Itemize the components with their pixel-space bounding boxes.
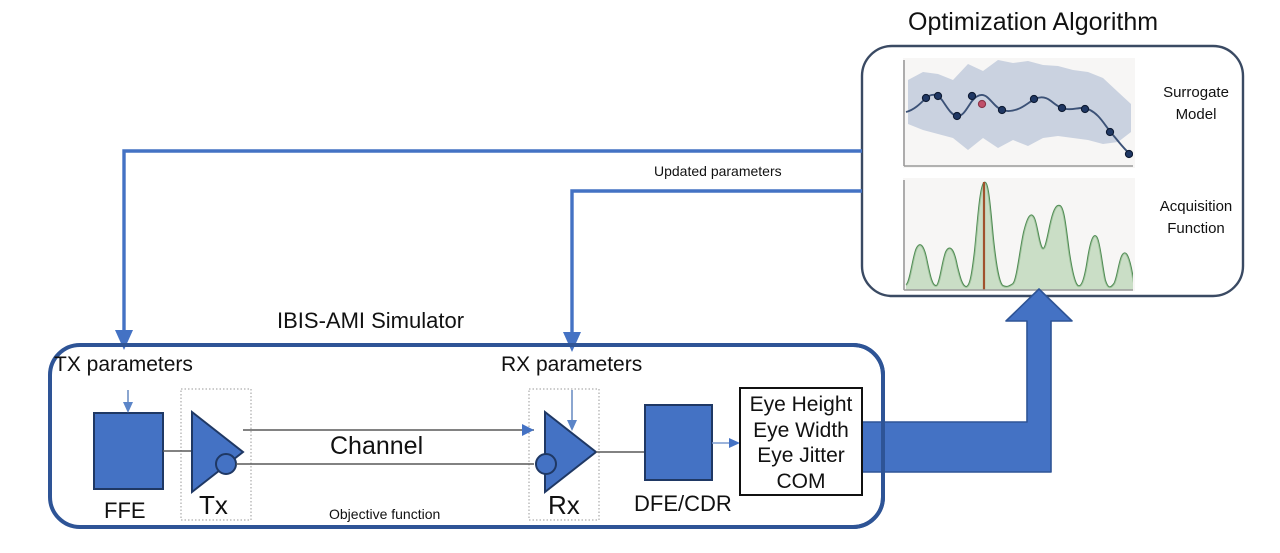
updated-parameters-label: Updated parameters <box>654 163 782 179</box>
acquisition-function-plot <box>903 178 1136 291</box>
rx-input-node <box>536 454 556 474</box>
feedback-arrow-tx <box>115 151 862 350</box>
optimization-title: Optimization Algorithm <box>908 8 1158 37</box>
simulator-title: IBIS-AMI Simulator <box>277 308 464 334</box>
surrogate-model-plot <box>903 58 1135 168</box>
ffe-block <box>94 413 163 489</box>
ffe-label: FFE <box>104 498 146 524</box>
surrogate-next-sample-point <box>978 100 985 107</box>
tx-parameters-label: TX parameters <box>54 353 193 377</box>
dfe-cdr-label: DFE/CDR <box>634 491 732 517</box>
channel-label: Channel <box>330 432 423 461</box>
surrogate-model-label: Surrogate Model <box>1150 82 1242 126</box>
results-arrow <box>845 289 1072 472</box>
tx-amplifier <box>192 412 243 492</box>
tx-output-node <box>216 454 236 474</box>
channel-arrowhead <box>522 424 534 436</box>
feedback-arrow-rx <box>563 191 862 352</box>
tx-label: Tx <box>199 490 228 521</box>
eye-metrics-text: Eye Height Eye Width Eye Jitter COM <box>740 392 862 494</box>
diagram-canvas: Optimization Algorithm Surrogate Model A… <box>0 0 1280 553</box>
tx-parameter-arrow <box>123 390 133 413</box>
rx-parameter-arrow <box>567 390 577 431</box>
diagram-graphics <box>0 0 1280 553</box>
acquisition-function-label: Acquisition Function <box>1150 196 1242 240</box>
objective-function-label: Objective function <box>329 506 440 522</box>
dfe-to-metrics-arrow <box>712 438 740 448</box>
rx-label: Rx <box>548 490 580 521</box>
dfe-cdr-block <box>645 405 712 480</box>
rx-parameters-label: RX parameters <box>501 353 642 377</box>
